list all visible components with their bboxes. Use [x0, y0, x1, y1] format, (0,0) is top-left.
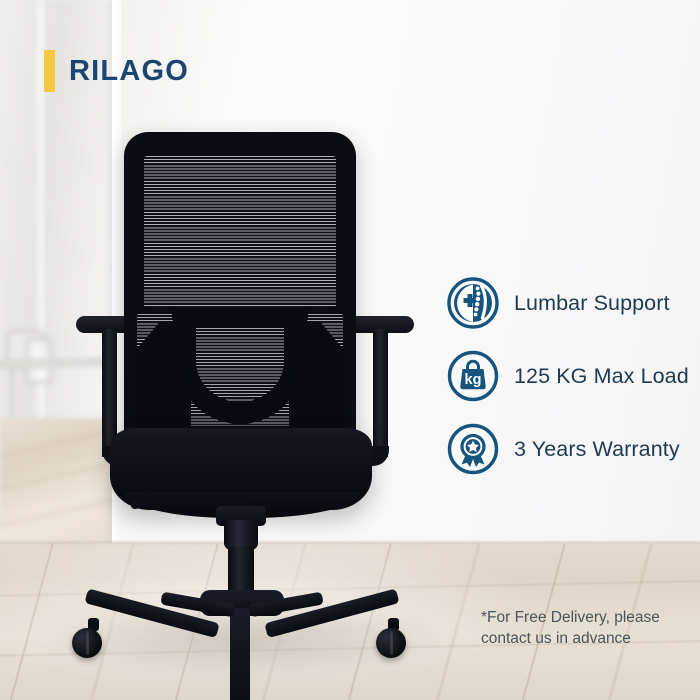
caster-wheel-right: [376, 628, 406, 658]
backrest-mesh-upper: [144, 156, 336, 308]
feature-label-lumbar-support: Lumbar Support: [514, 291, 670, 316]
base-arm-right: [264, 588, 399, 638]
armrest-post-right: [373, 329, 388, 457]
product-banner: RILAGO: [0, 0, 700, 700]
brand-name: RILAGO: [69, 55, 189, 88]
office-chair: [58, 128, 458, 688]
delivery-note-line-2: contact us in advance: [481, 629, 660, 650]
feature-label-warranty: 3 Years Warranty: [514, 437, 680, 462]
logo-accent-bar: [44, 50, 55, 92]
delivery-note: *For Free Delivery, please contact us in…: [481, 608, 660, 650]
background-desk-leg: [10, 366, 14, 418]
spine-lumbar-icon: [446, 276, 500, 330]
kg-weight-bag-icon: kg: [446, 349, 500, 403]
base-arm-center: [230, 608, 250, 700]
base-arm-left: [84, 588, 219, 638]
delivery-note-line-1: *For Free Delivery, please: [481, 608, 660, 629]
feature-item-max-load: kg 125 KG Max Load: [446, 349, 689, 403]
warranty-medal-icon: [446, 422, 500, 476]
feature-item-lumbar-support: Lumbar Support: [446, 276, 689, 330]
caster-wheel-left: [72, 628, 102, 658]
feature-item-warranty: 3 Years Warranty: [446, 422, 689, 476]
svg-text:kg: kg: [465, 372, 482, 388]
brand-logo: RILAGO: [44, 50, 189, 92]
chair-backrest: [124, 132, 356, 444]
feature-list: Lumbar Support kg 125 KG Max Load: [446, 276, 689, 476]
feature-label-max-load: 125 KG Max Load: [514, 364, 689, 389]
